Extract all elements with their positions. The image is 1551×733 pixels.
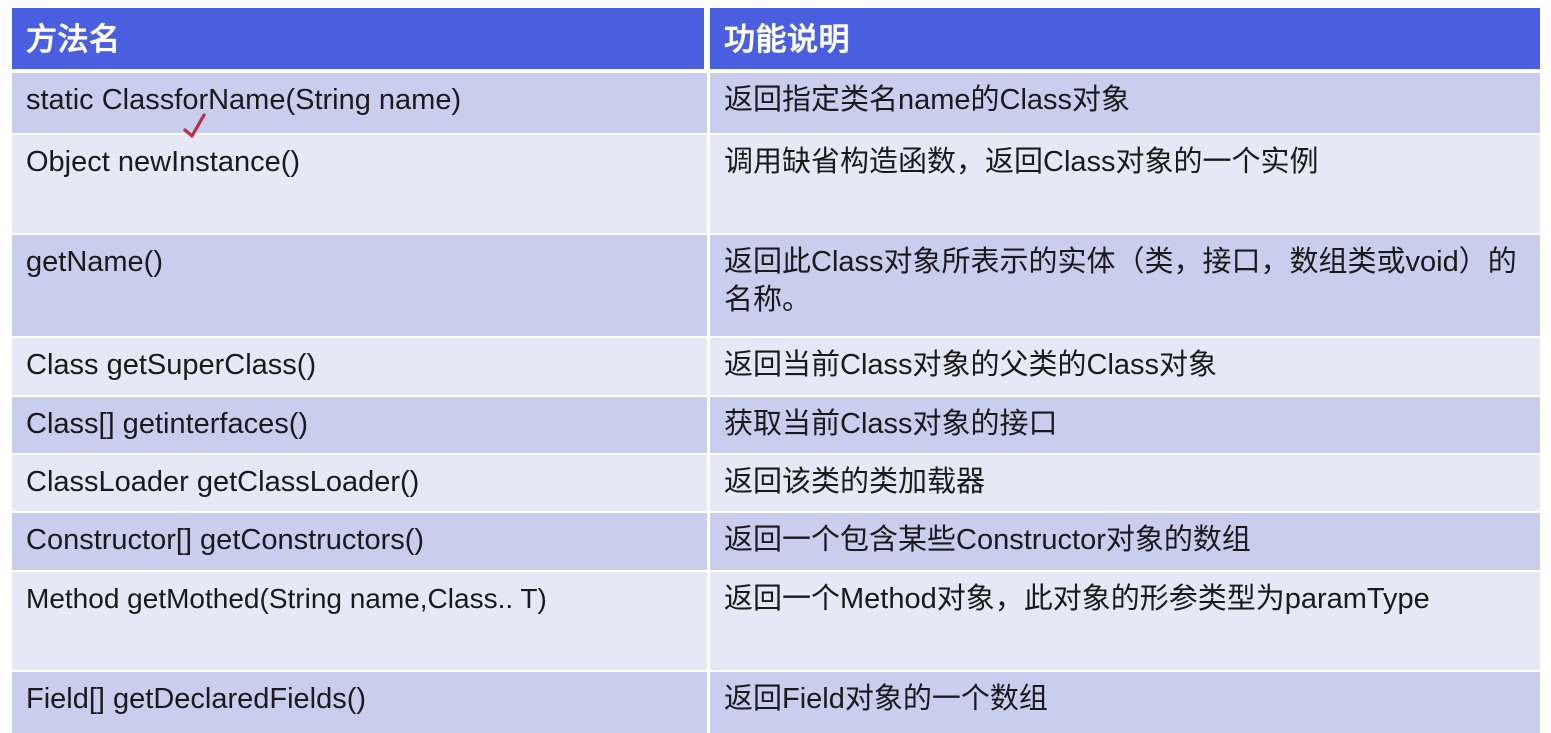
cell-description: 返回当前Class对象的父类的Class对象 <box>710 338 1540 397</box>
table-row: Class getSuperClass() 返回当前Class对象的父类的Cla… <box>12 338 1540 397</box>
table-row: Object newInstance() 调用缺省构造函数，返回Class对象的… <box>12 135 1540 235</box>
table-body: static ClassforName(String name) 返回指定类名n… <box>12 69 1540 733</box>
cell-description: 返回此Class对象所表示的实体（类，接口，数组类或void）的名称。 <box>710 235 1540 338</box>
table-row: Method getMothed(String name,Class.. T) … <box>12 572 1540 672</box>
reflection-api-table: 方法名 功能说明 static ClassforName(String name… <box>12 8 1540 733</box>
table-header: 方法名 功能说明 <box>12 8 1540 69</box>
cell-method-name: Class[] getinterfaces() <box>12 397 710 455</box>
column-header-description: 功能说明 <box>710 8 1540 69</box>
table-row: getName() 返回此Class对象所表示的实体（类，接口，数组类或void… <box>12 235 1540 338</box>
cell-method-name: Constructor[] getConstructors() <box>12 513 710 572</box>
table-row: Field[] getDeclaredFields() 返回Field对象的一个… <box>12 672 1540 733</box>
cell-method-name: getName() <box>12 235 710 338</box>
cell-description: 获取当前Class对象的接口 <box>710 397 1540 455</box>
reflection-api-table-container: 方法名 功能说明 static ClassforName(String name… <box>12 8 1540 726</box>
cell-description: 返回一个包含某些Constructor对象的数组 <box>710 513 1540 572</box>
cell-method-name: ClassLoader getClassLoader() <box>12 455 710 513</box>
table-row: ClassLoader getClassLoader() 返回该类的类加载器 <box>12 455 1540 513</box>
cell-description: 返回指定类名name的Class对象 <box>710 73 1540 135</box>
cell-description: 调用缺省构造函数，返回Class对象的一个实例 <box>710 135 1540 235</box>
cell-method-name: Object newInstance() <box>12 135 710 235</box>
cell-description: 返回一个Method对象，此对象的形参类型为paramType <box>710 572 1540 672</box>
table-row: Class[] getinterfaces() 获取当前Class对象的接口 <box>12 397 1540 455</box>
cell-method-name: Method getMothed(String name,Class.. T) <box>12 572 710 672</box>
table-row: static ClassforName(String name) 返回指定类名n… <box>12 73 1540 135</box>
cell-method-name: Class getSuperClass() <box>12 338 710 397</box>
table-row: Constructor[] getConstructors() 返回一个包含某些… <box>12 513 1540 572</box>
table-header-row: 方法名 功能说明 <box>12 8 1540 69</box>
cell-description: 返回该类的类加载器 <box>710 455 1540 513</box>
cell-method-name: Field[] getDeclaredFields() <box>12 672 710 733</box>
cell-description: 返回Field对象的一个数组 <box>710 672 1540 733</box>
cell-method-name: static ClassforName(String name) <box>12 73 710 135</box>
column-header-method-name: 方法名 <box>12 8 710 69</box>
